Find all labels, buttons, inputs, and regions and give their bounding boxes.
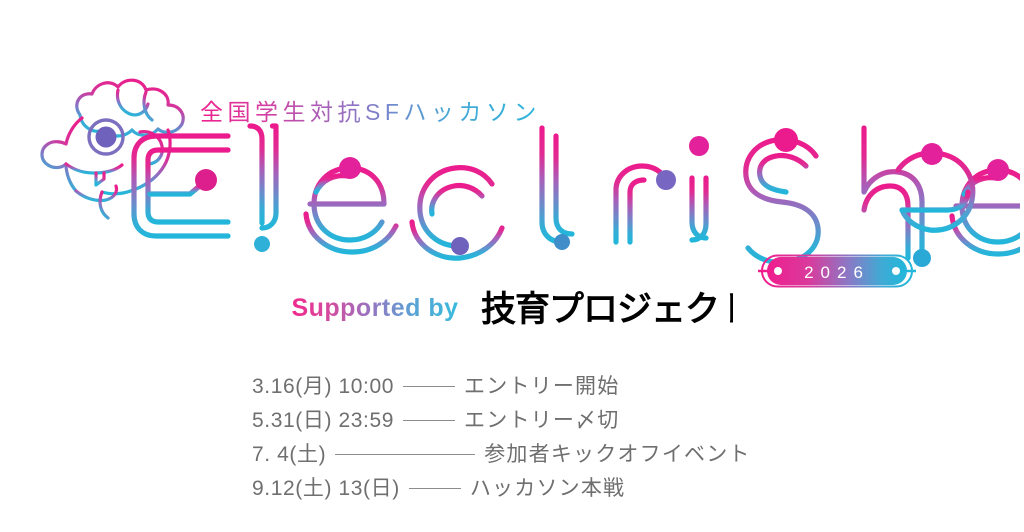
schedule-row: 5.31(日) 23:59 エントリー〆切: [252, 402, 772, 436]
schedule-rule: [403, 420, 455, 421]
schedule-rule: [335, 454, 475, 455]
schedule-date: 7. 4(土): [252, 438, 326, 468]
schedule-row: 3.16(月) 10:00 エントリー開始: [252, 368, 772, 402]
year-badge-text: 2026: [804, 263, 870, 282]
schedule-label: エントリー〆切: [464, 404, 619, 434]
schedule-label: エントリー開始: [464, 370, 619, 400]
poster-root: 全国学生対抗SFハッカソン: [0, 0, 1024, 532]
sponsor-logo-giiku-project: 技育プロジェクト: [481, 285, 733, 331]
schedule-date: 9.12(土) 13(日): [252, 472, 400, 502]
schedule-rule: [409, 488, 461, 489]
schedule-label: ハッカソン本戦: [470, 472, 625, 502]
schedule-label: 参加者キックオフイベント: [484, 438, 750, 468]
schedule-row: 9.12(土) 13(日) ハッカソン本戦: [252, 470, 772, 504]
schedule-date: 5.31(日) 23:59: [252, 404, 394, 434]
schedule-rule: [403, 386, 455, 387]
supported-by-label: Supported by: [291, 294, 458, 323]
schedule-list: 3.16(月) 10:00 エントリー開始 5.31(日) 23:59 エントリ…: [0, 368, 1024, 504]
schedule-date: 3.16(月) 10:00: [252, 370, 394, 400]
schedule-row: 7. 4(土) 参加者キックオフイベント: [252, 436, 772, 470]
sponsor-logo-text: 技育プロジェクト: [481, 289, 733, 330]
supported-by-row: Supported by 技育プロジェクト: [0, 282, 1024, 334]
logo-block: 全国学生対抗SFハッカソン: [0, 0, 1024, 300]
